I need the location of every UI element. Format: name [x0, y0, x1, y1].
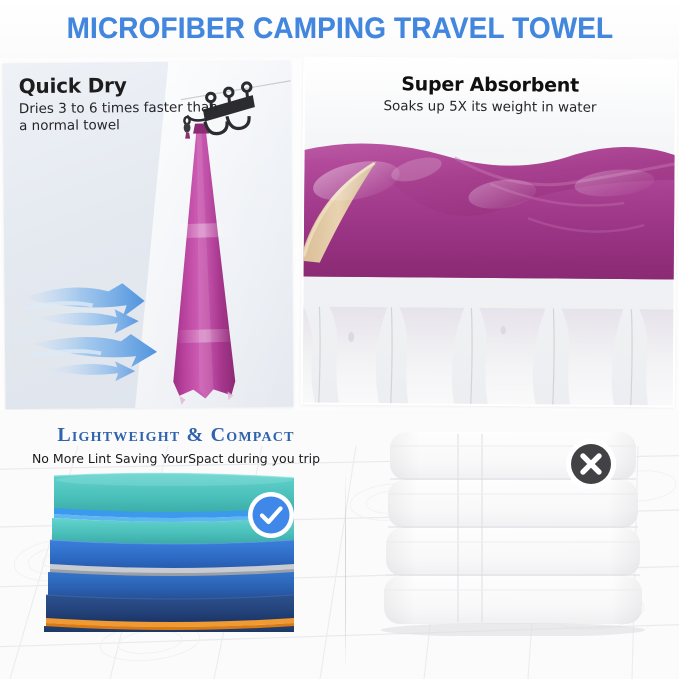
- page-title: MICROFIBER CAMPING TRAVEL TOWEL: [66, 12, 613, 46]
- panel-super-absorbent: Super Absorbent Soaks up 5X its weight i…: [301, 57, 678, 408]
- super-absorbent-title: Super Absorbent: [305, 73, 675, 98]
- wet-towel-icon: [301, 136, 678, 339]
- super-absorbent-text-block: Super Absorbent Soaks up 5X its weight i…: [305, 73, 675, 117]
- quick-dry-text-block: Quick Dry Dries 3 to 6 times faster than…: [19, 73, 220, 135]
- super-absorbent-subtitle: Soaks up 5X its weight in water: [305, 98, 675, 117]
- panel-quick-dry: Quick Dry Dries 3 to 6 times faster than…: [2, 61, 293, 410]
- lightweight-text-block: Lightweight & Compact No More Lint Savin…: [0, 424, 352, 466]
- quick-dry-title: Quick Dry: [19, 73, 219, 98]
- section-divider: [345, 470, 346, 670]
- lightweight-title: Lightweight & Compact: [0, 424, 352, 447]
- x-circle-icon: [565, 438, 617, 490]
- quick-dry-subtitle: Dries 3 to 6 times faster than a normal …: [19, 99, 219, 135]
- header-banner: MICROFIBER CAMPING TRAVEL TOWEL: [0, 0, 679, 58]
- check-circle-icon: [247, 491, 295, 539]
- lightweight-subtitle: No More Lint Saving YourSpact during you…: [0, 451, 352, 466]
- infographic-page: MICROFIBER CAMPING TRAVEL TOWEL Quick Dr…: [0, 0, 679, 679]
- airflow-arrows-icon: [26, 276, 212, 398]
